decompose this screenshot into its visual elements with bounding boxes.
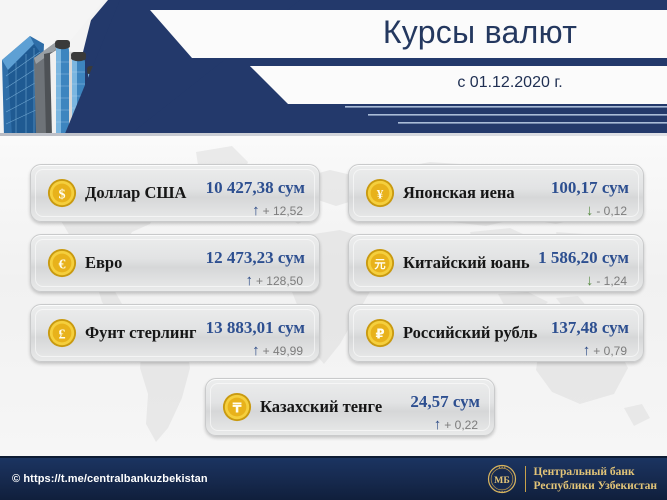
change-value: - 0,12 xyxy=(596,204,627,218)
currency-name: Российский рубль xyxy=(403,323,537,343)
bank-name: Центральный банк Республики Узбекистан xyxy=(534,465,657,493)
rate-card-gbp[interactable]: £ Фунт стерлинг 13 883,01 сум ↑ + 49,99 xyxy=(30,304,320,362)
currency-rate: 100,17 сум xyxy=(551,178,629,198)
currency-rate: 13 883,01 сум xyxy=(206,318,305,338)
currency-change: ↑ + 12,52 xyxy=(252,203,303,218)
arrow-up-icon: ↑ xyxy=(434,417,442,432)
currency-change: ↑ + 128,50 xyxy=(245,273,303,288)
change-value: + 49,99 xyxy=(263,344,303,358)
currency-rate: 1 586,20 сум xyxy=(538,248,629,268)
change-value: + 0,79 xyxy=(593,344,627,358)
change-value: + 12,52 xyxy=(263,204,303,218)
arrow-up-icon: ↑ xyxy=(583,343,591,358)
page-title: Курсы валют xyxy=(300,14,660,51)
yuan-coin-icon: 元 xyxy=(365,248,395,278)
currency-rate: 137,48 сум xyxy=(551,318,629,338)
currency-rate: 12 473,23 сум xyxy=(206,248,305,268)
central-bank-seal-icon: МБ ★ ★ ★ ★ ★ ★ xyxy=(487,464,517,494)
rate-card-rub[interactable]: ₽ Российский рубль 137,48 сум ↑ + 0,79 xyxy=(348,304,644,362)
slide-footer: © https://t.me/centralbankuzbekistan МБ … xyxy=(0,456,667,500)
arrow-up-icon: ↑ xyxy=(252,203,260,218)
yen-coin-icon: ¥ xyxy=(365,178,395,208)
tenge-coin-icon: ₸ xyxy=(222,392,252,422)
svg-text:₸: ₸ xyxy=(232,402,241,417)
currency-name: Японская иена xyxy=(403,183,515,203)
pound-coin-icon: £ xyxy=(47,318,77,348)
change-value: + 0,22 xyxy=(444,418,478,432)
rate-card-usd[interactable]: $ Доллар США 10 427,38 сум ↑ + 12,52 xyxy=(30,164,320,222)
slide-header: Курсы валют с 01.12.2020 г. xyxy=(0,0,667,136)
svg-text:$: $ xyxy=(58,187,65,203)
svg-text:₽: ₽ xyxy=(375,328,384,343)
currency-change: ↑ + 49,99 xyxy=(252,343,303,358)
arrow-down-icon: ↓ xyxy=(586,203,594,218)
currency-rate: 10 427,38 сум xyxy=(206,178,305,198)
currency-change: ↑ + 0,22 xyxy=(434,417,478,432)
currency-name: Евро xyxy=(85,253,122,273)
brand-divider xyxy=(525,466,526,492)
currency-change: ↑ + 0,79 xyxy=(583,343,627,358)
currency-change: ↓ - 1,24 xyxy=(586,273,627,288)
bank-name-line1: Центральный банк xyxy=(534,465,657,479)
currency-rates-slide: Курсы валют с 01.12.2020 г. $ Доллар США… xyxy=(0,0,667,500)
telegram-link[interactable]: © https://t.me/centralbankuzbekistan xyxy=(12,473,208,485)
svg-text:€: € xyxy=(58,257,65,273)
dollar-coin-icon: $ xyxy=(47,178,77,208)
currency-change: ↓ - 0,12 xyxy=(586,203,627,218)
currency-name: Казахский тенге xyxy=(260,397,382,417)
currency-name: Фунт стерлинг xyxy=(85,323,196,343)
svg-text:МБ: МБ xyxy=(494,475,510,486)
svg-text:元: 元 xyxy=(374,258,386,271)
change-value: + 128,50 xyxy=(256,274,303,288)
effective-date: с 01.12.2020 г. xyxy=(380,74,640,92)
rate-card-cny[interactable]: 元 Китайский юань 1 586,20 сум ↓ - 1,24 xyxy=(348,234,644,292)
arrow-up-icon: ↑ xyxy=(245,273,253,288)
euro-coin-icon: € xyxy=(47,248,77,278)
change-value: - 1,24 xyxy=(596,274,627,288)
rate-card-jpy[interactable]: ¥ Японская иена 100,17 сум ↓ - 0,12 xyxy=(348,164,644,222)
svg-text:¥: ¥ xyxy=(377,187,384,202)
currency-name: Китайский юань xyxy=(403,253,530,273)
arrow-up-icon: ↑ xyxy=(252,343,260,358)
ruble-coin-icon: ₽ xyxy=(365,318,395,348)
bank-name-line2: Республики Узбекистан xyxy=(534,479,657,493)
svg-text:★ ★ ★: ★ ★ ★ xyxy=(498,491,505,494)
arrow-down-icon: ↓ xyxy=(586,273,594,288)
rate-card-kzt[interactable]: ₸ Казахский тенге 24,57 сум ↑ + 0,22 xyxy=(205,378,495,436)
svg-text:★ ★ ★: ★ ★ ★ xyxy=(498,466,505,469)
currency-rate: 24,57 сум xyxy=(410,392,480,412)
currency-name: Доллар США xyxy=(85,183,186,203)
header-bottom-rule xyxy=(0,133,667,136)
bank-brand: МБ ★ ★ ★ ★ ★ ★ Центральный банк Республи… xyxy=(487,464,657,494)
svg-text:£: £ xyxy=(58,327,65,343)
rate-card-eur[interactable]: € Евро 12 473,23 сум ↑ + 128,50 xyxy=(30,234,320,292)
